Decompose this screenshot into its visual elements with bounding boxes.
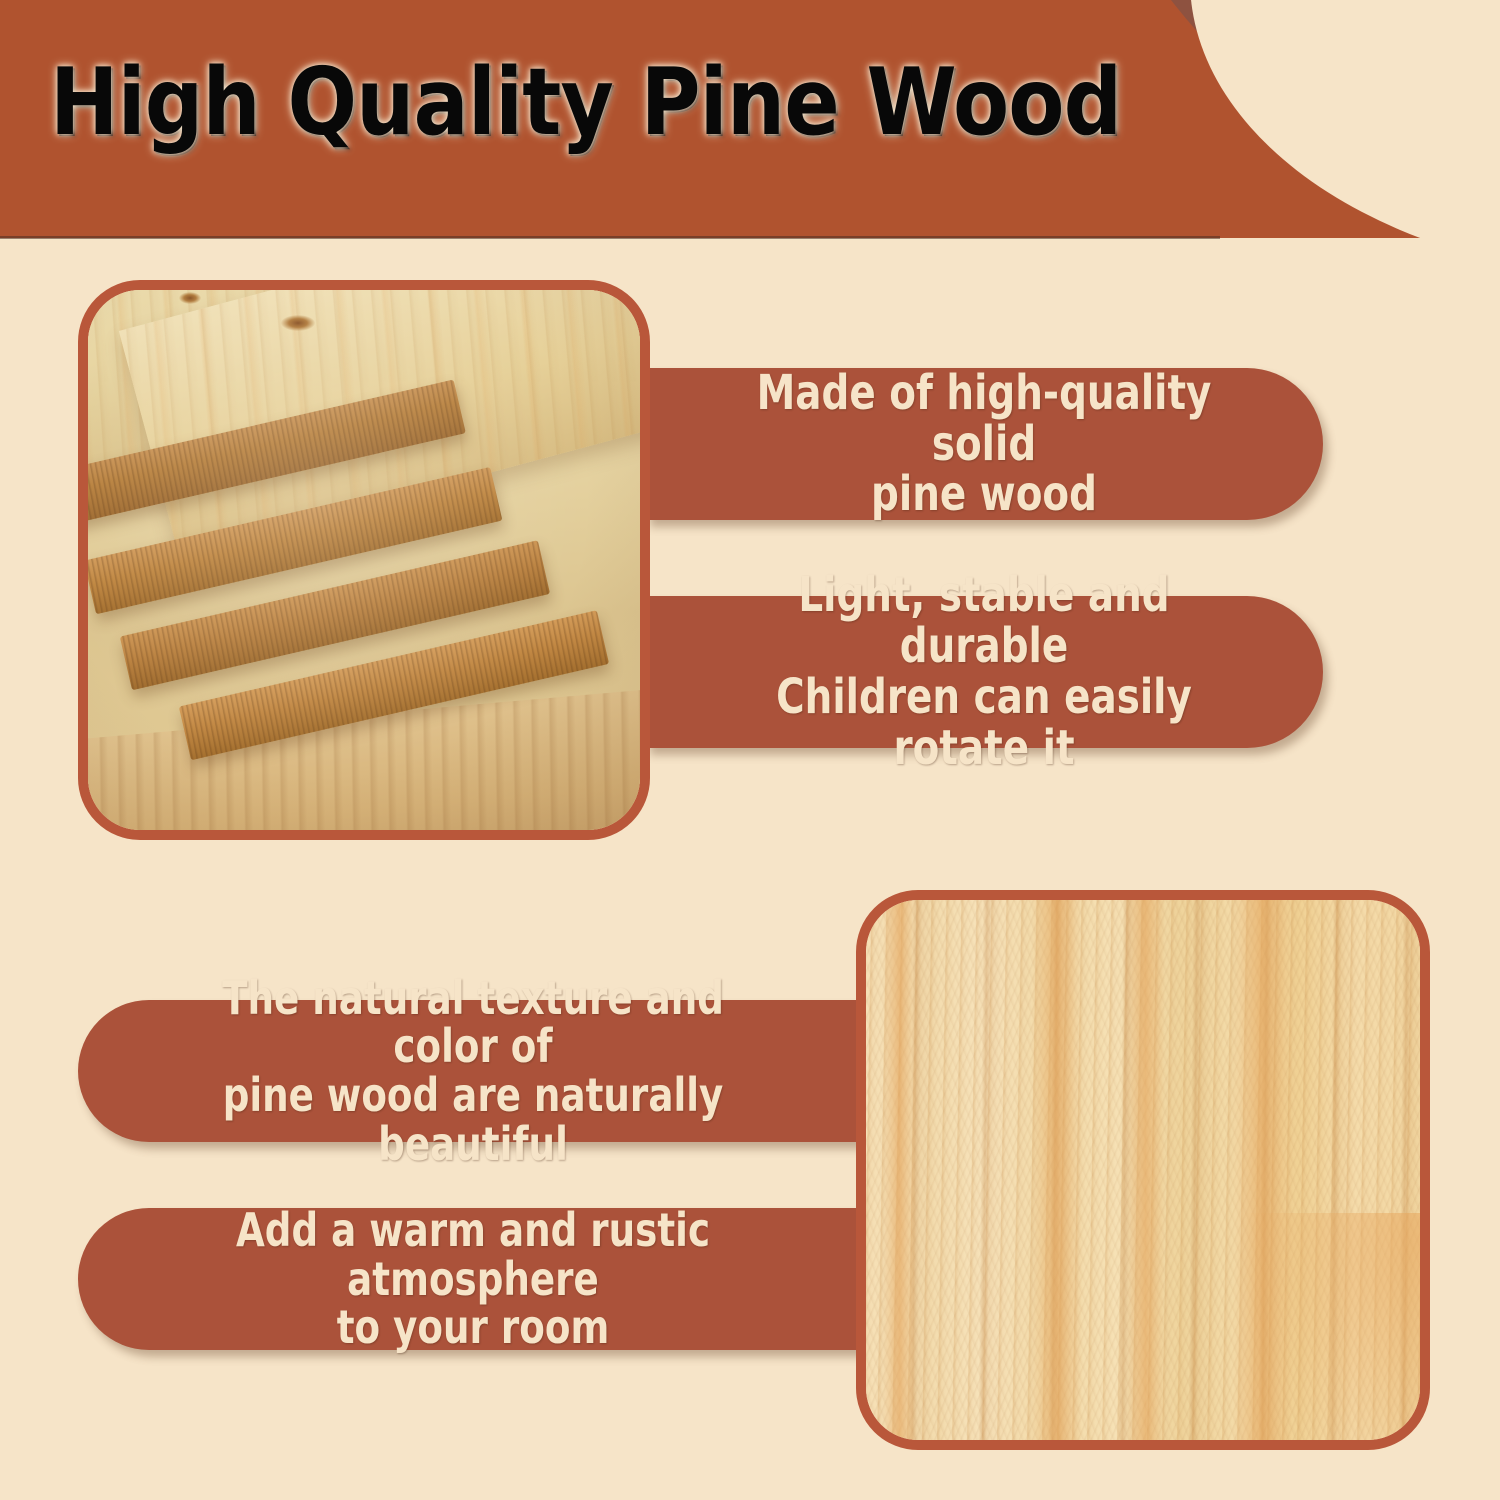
callout-line-1: The natural texture and color of: [174, 974, 772, 1072]
callout-line-1: Made of high-quality solid: [730, 368, 1237, 470]
photo-image-area: [88, 290, 640, 830]
grain-band: [1126, 900, 1165, 1440]
callout-warm-rustic-atmosphere: Add a warm and rustic atmosphere to your…: [78, 1208, 868, 1350]
callout-line-2: pine wood are naturally beautiful: [174, 1071, 772, 1169]
grain-scene: [866, 900, 1420, 1440]
pine-grain-closeup-photo: [856, 890, 1430, 1450]
page-title: High Quality Pine Wood: [50, 56, 1121, 149]
callout-made-of-solid-pine: Made of high-quality solid pine wood: [645, 368, 1323, 520]
callout-text: The natural texture and color of pine wo…: [141, 974, 805, 1169]
grain-band: [1032, 900, 1082, 1440]
callout-light-stable-durable: Light, stable and durable Children can e…: [645, 596, 1323, 748]
photo-image-area: [866, 900, 1420, 1440]
callout-line-2: Children can easily rotate it: [730, 672, 1237, 774]
callout-text: Add a warm and rustic atmosphere to your…: [141, 1206, 805, 1352]
grain-band: [883, 900, 916, 1440]
callout-line-1: Add a warm and rustic atmosphere: [174, 1206, 772, 1304]
photo-vignette: [88, 290, 640, 830]
stacked-pine-boards-photo: [78, 280, 650, 840]
header-bottom-rule: [0, 236, 1220, 239]
product-infographic: High Quality Pine Wood: [0, 0, 1500, 1500]
plank-scene: [88, 290, 640, 830]
callout-line-2: to your room: [174, 1303, 772, 1352]
callout-text: Light, stable and durable Children can e…: [702, 570, 1265, 774]
callout-line-2: pine wood: [730, 469, 1237, 520]
grain-curve: [1243, 1213, 1420, 1440]
callout-text: Made of high-quality solid pine wood: [702, 368, 1265, 521]
callout-natural-texture: The natural texture and color of pine wo…: [78, 1000, 868, 1142]
callout-line-1: Light, stable and durable: [730, 570, 1237, 672]
